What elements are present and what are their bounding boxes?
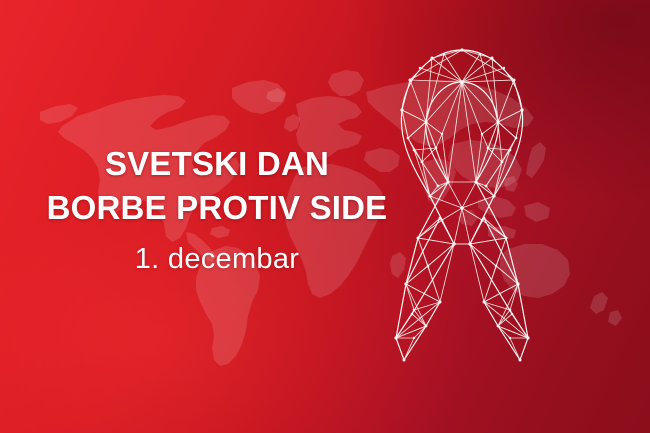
date-subline: 1. decembar: [0, 239, 434, 279]
world-aids-day-banner: SVETSKI DAN BORBE PROTIV SIDE 1. decemba…: [0, 0, 650, 433]
headline-block: SVETSKI DAN BORBE PROTIV SIDE 1. decemba…: [0, 142, 434, 279]
headline-line-2: BORBE PROTIV SIDE: [0, 186, 434, 230]
headline-line-1: SVETSKI DAN: [0, 142, 434, 186]
